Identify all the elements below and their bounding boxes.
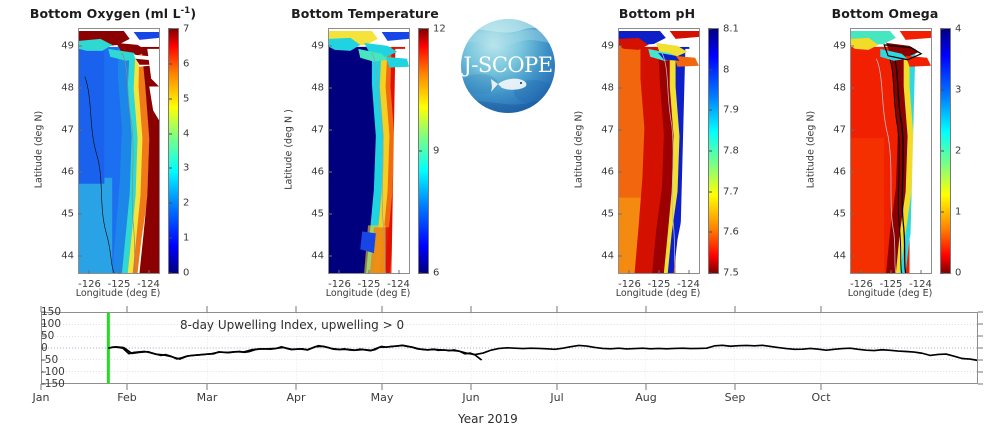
- ytick-label: 44: [601, 250, 614, 261]
- ts-xtick-label: Aug: [635, 391, 656, 404]
- ytick-label: 45: [601, 208, 614, 219]
- cbar-tick-label: 0: [183, 268, 189, 279]
- cbar-tick-label: 7.6: [723, 227, 739, 238]
- cbar-tick-label: 6: [433, 268, 439, 279]
- upwelling-index-timeseries: 150 100 50 0 -50 -100 -150 Jan Feb Mar A…: [0, 296, 1000, 432]
- panel-bottom-omega: Bottom Omega: [790, 0, 1000, 296]
- ytick-label: 47: [601, 125, 614, 136]
- cbar-tick-label: 8: [723, 64, 729, 75]
- ytickmark: [78, 46, 82, 47]
- ytick-label: 47: [311, 125, 324, 136]
- ts-xtick-label: Sep: [725, 391, 746, 404]
- ytick-label: 45: [61, 208, 74, 219]
- map-bottom-oxygen[interactable]: 49 48 47 46 45 44 -126 -125 -124: [78, 28, 160, 274]
- cbar-tick-label: 12: [433, 24, 446, 35]
- cbar-tick-label: 7.8: [723, 146, 739, 157]
- timeseries-title: 8-day Upwelling Index, upwelling > 0: [180, 318, 404, 332]
- panel-title-bottom-oxygen: Bottom Oxygen (ml L-1): [0, 6, 238, 21]
- map-panel-row: Bottom Oxygen (ml L-1): [0, 0, 1000, 296]
- map-bottom-omega[interactable]: 49 48 47 46 45 44 -126 -125 -124: [850, 28, 932, 274]
- colorbar-bottom-oxygen: 7 6 5 4 3 2 1 0: [168, 28, 179, 274]
- ytick-label: 48: [61, 83, 74, 94]
- xtickmark: [119, 270, 120, 274]
- ytick-label: 49: [61, 41, 74, 52]
- ytick-label: 44: [61, 250, 74, 261]
- ytick-label: 46: [601, 166, 614, 177]
- ts-xtick-label: Jan: [33, 391, 50, 404]
- j-scope-logo[interactable]: J-SCOPE: [460, 18, 556, 114]
- cbar-tick-label: 0: [955, 268, 961, 279]
- ts-xtick-label: Mar: [197, 391, 218, 404]
- ytick-label: 49: [833, 41, 846, 52]
- cbar-tick-label: 9: [433, 146, 439, 157]
- map-bottom-ph[interactable]: 49 48 47 46 45 44 -126 -125 -124: [618, 28, 700, 274]
- cbar-tick-label: 2: [955, 146, 961, 157]
- ytick-label: 46: [833, 166, 846, 177]
- ts-xtick-label: Jun: [462, 391, 479, 404]
- xtickmark: [89, 270, 90, 274]
- cbar-tick-label: 7: [183, 24, 189, 35]
- axis-label-latitude: Latitude (deg N): [574, 105, 585, 195]
- xtickmark: [148, 270, 149, 274]
- ytick-label: 48: [311, 83, 324, 94]
- cbar-tick-label: 7.5: [723, 268, 739, 279]
- colorbar-bottom-omega: 4 3 2 1 0: [940, 28, 951, 274]
- ytick-label: 49: [601, 41, 614, 52]
- cbar-tick-label: 5: [183, 93, 189, 104]
- cbar-tick-label: 4: [183, 128, 189, 139]
- panel-title-bottom-ph: Bottom pH: [532, 6, 782, 21]
- ytickmark: [78, 255, 82, 256]
- ytick-label: 44: [833, 250, 846, 261]
- cbar-tick-label: 7.9: [723, 105, 739, 116]
- ytick-label: 46: [61, 166, 74, 177]
- ytick-label: 48: [601, 83, 614, 94]
- panel-title-bottom-temperature: Bottom Temperature: [240, 6, 490, 21]
- colorbar-bottom-temperature: 12 9 6: [418, 28, 429, 274]
- ytickmark: [78, 213, 82, 214]
- svg-text:J-SCOPE: J-SCOPE: [461, 53, 552, 77]
- ytick-label: 45: [311, 208, 324, 219]
- colorbar-bottom-ph: 8.1 8 7.9 7.8 7.7 7.6 7.5: [708, 28, 719, 274]
- panel-bottom-temperature: Bottom Temperature: [250, 0, 500, 296]
- ts-xtick-label: May: [371, 391, 394, 404]
- cbar-tick-label: 8.1: [723, 24, 739, 35]
- cbar-tick-label: 1: [955, 207, 961, 218]
- ytick-label: 45: [833, 208, 846, 219]
- cbar-tick-label: 6: [183, 58, 189, 69]
- ytick-label: 48: [833, 83, 846, 94]
- ytick-label: 44: [311, 250, 324, 261]
- axis-label-latitude: Latitude (deg N): [34, 105, 45, 195]
- ts-xtick-label: Feb: [117, 391, 136, 404]
- cbar-tick-label: 1: [183, 233, 189, 244]
- ytick-label: 49: [311, 41, 324, 52]
- timeseries-xlabel: Year 2019: [458, 412, 518, 426]
- map-bottom-temperature[interactable]: 49 48 47 46 45 44 -126 -125 -124: [328, 28, 410, 274]
- cbar-tick-label: 2: [183, 198, 189, 209]
- ytick-label: 47: [833, 125, 846, 136]
- axis-label-latitude: Latitude (deg N ): [284, 105, 295, 195]
- panel-title-bottom-omega: Bottom Omega: [780, 6, 990, 21]
- axis-label-latitude: Latitude (deg N): [806, 105, 817, 195]
- ytick-label: 46: [311, 166, 324, 177]
- ytick-label: 47: [61, 125, 74, 136]
- cbar-tick-label: 3: [955, 85, 961, 96]
- ytickmark: [78, 171, 82, 172]
- panel-bottom-oxygen: Bottom Oxygen (ml L-1): [0, 0, 250, 296]
- ytickmark: [78, 88, 82, 89]
- cbar-tick-label: 3: [183, 163, 189, 174]
- cbar-tick-label: 4: [955, 24, 961, 35]
- panel-bottom-ph: Bottom pH: [540, 0, 790, 296]
- ytickmark: [78, 130, 82, 131]
- ts-xtick-label: Oct: [811, 391, 830, 404]
- ts-xtick-label: Apr: [286, 391, 305, 404]
- ts-xtick-label: Jul: [550, 391, 563, 404]
- cbar-tick-label: 7.7: [723, 186, 739, 197]
